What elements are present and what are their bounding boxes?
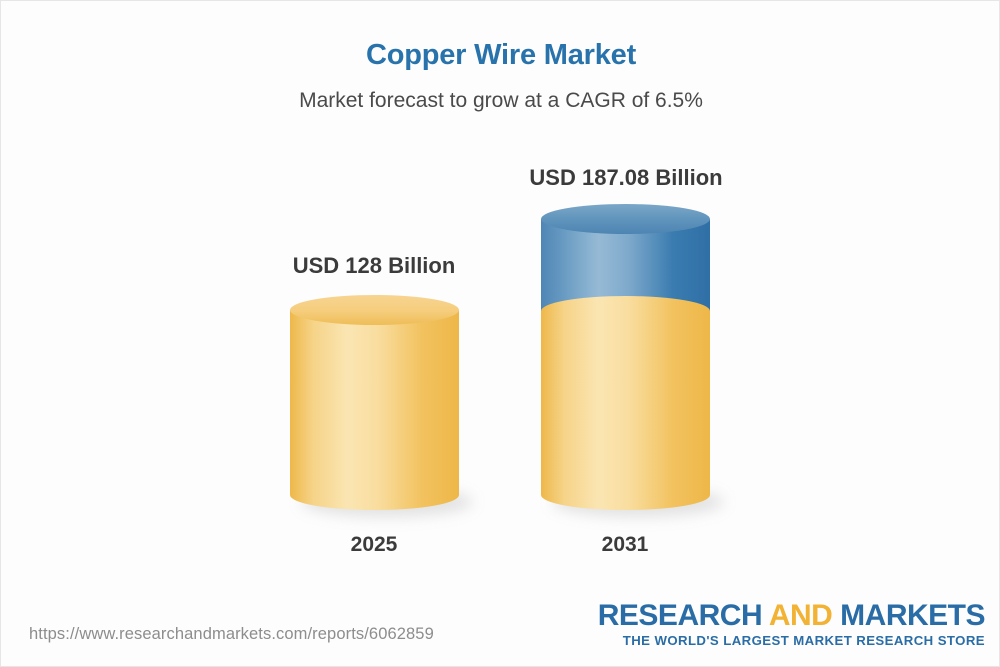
- brand-tagline: THE WORLD'S LARGEST MARKET RESEARCH STOR…: [598, 633, 985, 648]
- brand-word-and: AND: [769, 599, 833, 632]
- source-url[interactable]: https://www.researchandmarkets.com/repor…: [29, 625, 434, 644]
- brand-logo[interactable]: RESEARCH AND MARKETS THE WORLD'S LARGEST…: [598, 600, 985, 649]
- cylinder-top-cap-2031: [541, 204, 710, 234]
- brand-wordmark: RESEARCH AND MARKETS: [598, 600, 985, 632]
- brand-word-markets: MARKETS: [832, 599, 985, 632]
- bar-value-label-2031: USD 187.08 Billion: [466, 165, 786, 191]
- cylinder-body-2025: [290, 310, 459, 495]
- bar-value-label-2025: USD 128 Billion: [214, 253, 534, 279]
- bar-category-label-2031: 2031: [465, 533, 785, 557]
- chart-plot-area: USD 128 Billion 2025 USD 187.08 Billion: [1, 1, 1000, 601]
- cylinder-segment-seam-2031: [541, 296, 710, 326]
- brand-word-research: RESEARCH: [598, 599, 769, 632]
- infographic-canvas: Copper Wire Market Market forecast to gr…: [0, 0, 1000, 667]
- cylinder-top-cap-2025: [290, 295, 459, 325]
- cylinder-base-body-2031: [541, 311, 710, 495]
